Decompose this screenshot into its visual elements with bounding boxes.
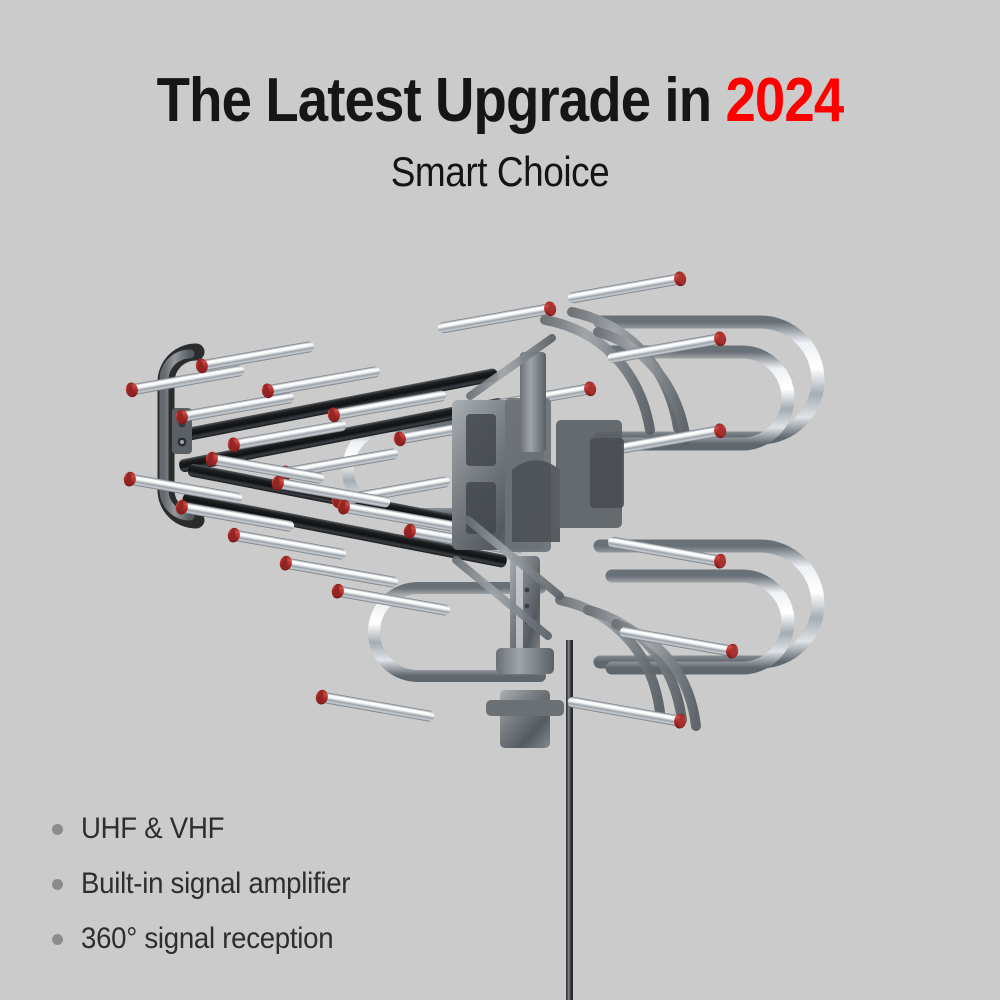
bullet-dot-icon <box>52 824 63 835</box>
feature-label: 360° signal reception <box>81 922 333 956</box>
poster-canvas: The Latest Upgrade in 2024 Smart Choice … <box>0 0 1000 1000</box>
bullet-dot-icon <box>52 879 63 890</box>
headline-prefix: The Latest Upgrade in <box>157 66 726 135</box>
bullet-dot-icon <box>52 934 63 945</box>
feature-list: UHF & VHF Built-in signal amplifier 360°… <box>52 812 572 977</box>
list-item: 360° signal reception <box>52 922 572 956</box>
feature-label: Built-in signal amplifier <box>81 867 350 901</box>
headline-year: 2024 <box>725 66 843 135</box>
list-item: Built-in signal amplifier <box>52 867 572 901</box>
headline: The Latest Upgrade in 2024 <box>60 68 940 133</box>
feature-label: UHF & VHF <box>81 812 224 846</box>
subtitle: Smart Choice <box>60 148 940 196</box>
list-item: UHF & VHF <box>52 812 572 846</box>
